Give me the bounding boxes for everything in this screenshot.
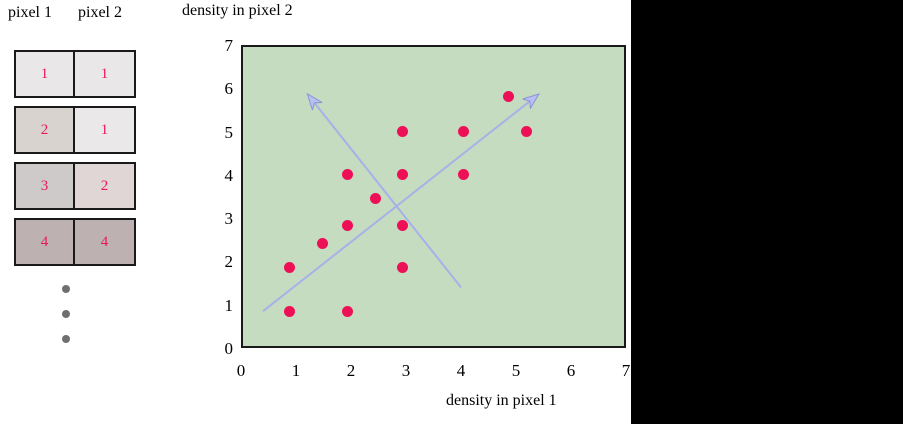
- scatter-point: [397, 262, 408, 273]
- pixel-1-cell: 4: [16, 220, 75, 264]
- pixel-2-cell: 2: [75, 164, 134, 208]
- x-tick-label: 5: [503, 362, 529, 379]
- pixel-grid-headers: pixel 1pixel 2: [8, 4, 173, 22]
- scatter-point: [503, 91, 514, 102]
- y-tick-label: 3: [207, 210, 233, 227]
- pixel-grid-panel: pixel 1pixel 2 11213244: [0, 0, 180, 370]
- pixel-row: 44: [14, 218, 136, 266]
- y-tick-label: 7: [207, 37, 233, 54]
- y-tick-label: 5: [207, 124, 233, 141]
- x-tick-label: 0: [228, 362, 254, 379]
- x-tick-label: 2: [338, 362, 364, 379]
- x-tick-label: 1: [283, 362, 309, 379]
- pixel-1-cell: 2: [16, 108, 75, 152]
- pixel-2-cell: 1: [75, 52, 134, 96]
- y-tick-label: 1: [207, 297, 233, 314]
- x-tick-label: 6: [558, 362, 584, 379]
- x-tick-label: 7: [613, 362, 639, 379]
- plot-area: [241, 45, 626, 348]
- scatter-point: [284, 262, 295, 273]
- scatter-point: [317, 238, 328, 249]
- figure-root: pixel 1pixel 2 11213244 density in pixel…: [0, 0, 903, 424]
- scatter-point: [397, 220, 408, 231]
- ellipsis-dot: [62, 285, 70, 293]
- plot-points-layer: [243, 47, 624, 346]
- pixel-2-cell: 4: [75, 220, 134, 264]
- x-tick-label: 4: [448, 362, 474, 379]
- y-tick-label: 6: [207, 80, 233, 97]
- pixel-2-cell: 1: [75, 108, 134, 152]
- pixel-row: 11: [14, 50, 136, 98]
- scatter-point: [397, 126, 408, 137]
- scatter-point: [521, 126, 532, 137]
- pixel-row: 21: [14, 106, 136, 154]
- pixel-2-header: pixel 2: [78, 4, 150, 22]
- vertical-ellipsis: [62, 285, 76, 360]
- ellipsis-dot: [62, 310, 70, 318]
- y-tick-label: 2: [207, 253, 233, 270]
- scatter-point: [458, 126, 469, 137]
- scatter-point: [342, 306, 353, 317]
- scatter-point: [397, 169, 408, 180]
- scatter-point: [284, 306, 295, 317]
- y-tick-label: 0: [207, 340, 233, 357]
- pixel-1-header: pixel 1: [8, 4, 78, 22]
- y-tick-label: 4: [207, 167, 233, 184]
- scatter-point: [370, 193, 381, 204]
- scatter-chart: density in pixel 2 01234567 01234567 den…: [180, 0, 631, 424]
- pixel-1-cell: 1: [16, 52, 75, 96]
- figure-canvas: pixel 1pixel 2 11213244 density in pixel…: [0, 0, 631, 424]
- pixel-row: 32: [14, 162, 136, 210]
- x-tick-label: 3: [393, 362, 419, 379]
- scatter-point: [458, 169, 469, 180]
- scatter-point: [342, 220, 353, 231]
- pixel-1-cell: 3: [16, 164, 75, 208]
- y-axis-label: density in pixel 2: [182, 2, 293, 20]
- scatter-point: [342, 169, 353, 180]
- x-axis-label: density in pixel 1: [446, 392, 557, 410]
- ellipsis-dot: [62, 335, 70, 343]
